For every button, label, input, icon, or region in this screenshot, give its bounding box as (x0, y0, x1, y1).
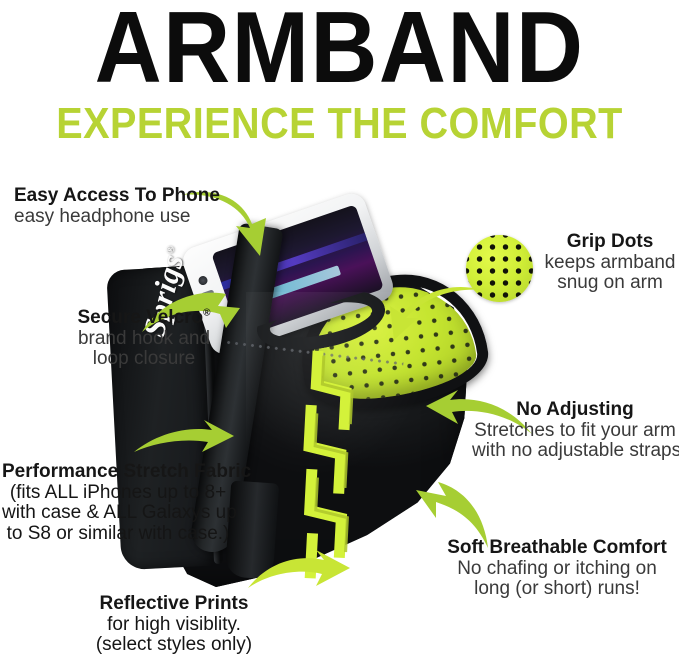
callout-line: easy headphone use (14, 207, 220, 228)
callout-performance-stretch-fabric: Performance Stretch Fabric (fits ALL iPh… (2, 462, 234, 545)
reflective-zigzag-print (276, 349, 398, 586)
callout-title: Easy Access To Phone (14, 186, 220, 207)
callout-secure-velcro: Secure Velcro® brand hook and loop closu… (56, 308, 232, 370)
grip-dots-swatch-icon (466, 235, 533, 302)
callout-line: long (or short) runs! (436, 579, 678, 600)
header-block: ARMBAND EXPERIENCE THE COMFORT (0, 2, 679, 146)
callout-line: Stretches to fit your arm (472, 421, 678, 442)
callout-title: Grip Dots (543, 232, 677, 253)
callout-line: (select styles only) (66, 635, 282, 656)
callout-easy-access-to-phone: Easy Access To Phone easy headphone use (14, 186, 220, 227)
callout-title: Soft Breathable Comfort (436, 538, 678, 559)
product-photo-armband: Sprigs® (96, 232, 488, 610)
callout-no-adjusting: No Adjusting Stretches to fit your arm w… (472, 400, 678, 462)
page-subtitle: EXPERIENCE THE COMFORT (34, 102, 645, 146)
callout-title: Reflective Prints (66, 594, 282, 615)
registered-mark-icon: ® (203, 308, 210, 319)
callout-line: keeps armband (543, 253, 677, 274)
infographic-canvas: ARMBAND EXPERIENCE THE COMFORT Sprigs® (0, 0, 679, 664)
callout-line: brand hook and (56, 329, 232, 350)
callout-title: No Adjusting (472, 400, 678, 421)
callout-line: for high visiblity. (66, 615, 282, 636)
callout-soft-breathable-comfort: Soft Breathable Comfort No chafing or it… (436, 538, 678, 600)
callout-line: snug on arm (543, 273, 677, 294)
callout-line: loop closure (56, 349, 232, 370)
callout-line: (fits ALL iPhones up to 8+ (2, 483, 234, 504)
callout-reflective-prints: Reflective Prints for high visiblity. (s… (66, 594, 282, 656)
callout-line: to S8 or similar with case.) (2, 524, 234, 545)
callout-title: Secure Velcro® (56, 308, 232, 329)
callout-line: with case & ALL Galaxys up (2, 503, 234, 524)
callout-line: No chafing or itching on (436, 559, 678, 580)
callout-grip-dots: Grip Dots keeps armband snug on arm (543, 232, 677, 294)
page-title: ARMBAND (27, 2, 652, 96)
callout-title-text: Secure Velcro (77, 307, 203, 328)
callout-line: with no adjustable straps (472, 441, 678, 462)
callout-title: Performance Stretch Fabric (2, 462, 234, 483)
